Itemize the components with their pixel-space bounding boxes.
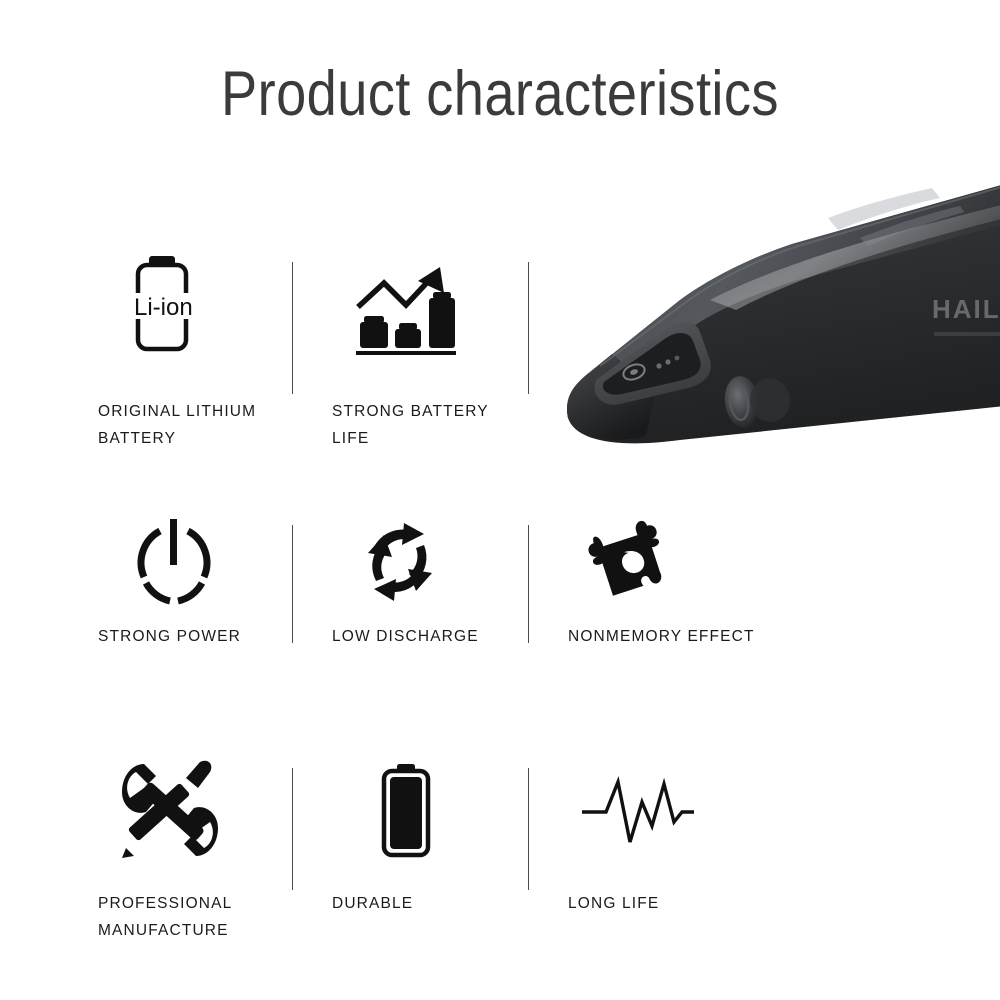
wrench-screwdriver-icon [118, 758, 222, 862]
feature-professional-manufacture: PROFESSIONAL MANUFACTURE [98, 758, 298, 958]
feature-label-original-lithium-battery: ORIGINAL LITHIUM BATTERY [98, 398, 256, 452]
power-button-icon [130, 515, 218, 607]
li-ion-battery-icon: Li-ion [130, 255, 208, 359]
feature-strong-power: STRONG POWER [98, 515, 298, 675]
feature-label-long-life: LONG LIFE [568, 890, 659, 917]
recycle-arrows-icon [354, 517, 446, 607]
feature-low-discharge: LOW DISCHARGE [332, 515, 532, 675]
feature-label-low-discharge: LOW DISCHARGE [332, 623, 479, 650]
feature-strong-battery-life: STRONG BATTERY LIFE [332, 255, 532, 445]
li-ion-label: Li-ion [134, 294, 193, 321]
feature-nonmemory-effect: NONMEMORY EFFECT [568, 515, 788, 675]
feature-label-strong-power: STRONG POWER [98, 623, 241, 650]
feature-label-durable: DURABLE [332, 890, 413, 917]
full-battery-icon [374, 764, 438, 860]
feature-original-lithium-battery: Li-ion ORIGINAL LITHIUM BATTERY [98, 255, 298, 445]
pulse-waveform-icon [580, 776, 696, 856]
feature-label-strong-battery-life: STRONG BATTERY LIFE [332, 398, 489, 452]
feature-grid: Li-ion ORIGINAL LITHIUM BATTERY [0, 0, 1000, 1000]
feature-label-nonmemory-effect: NONMEMORY EFFECT [568, 623, 755, 650]
feature-label-professional-manufacture: PROFESSIONAL MANUFACTURE [98, 890, 232, 944]
feature-long-life: LONG LIFE [568, 758, 788, 958]
puzzle-piece-icon [588, 515, 684, 611]
feature-durable: DURABLE [332, 758, 532, 958]
growth-bar-chart-icon [354, 261, 458, 359]
